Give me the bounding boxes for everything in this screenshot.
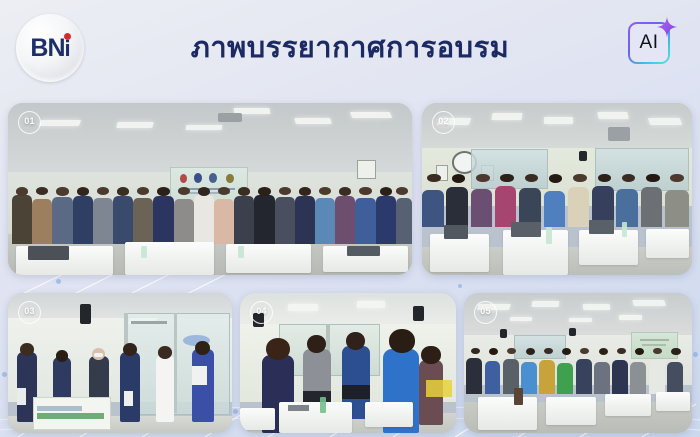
slide-header: BNi ภาพบรรยากาศการอบรม AI: [0, 0, 700, 96]
slide-root: BNi ภาพบรรยากาศการอบรม AI: [0, 0, 700, 437]
gallery-photo-4[interactable]: 04: [240, 293, 456, 433]
gallery-photo-2[interactable]: 02: [422, 103, 692, 275]
ai-badge: AI: [626, 16, 682, 72]
gallery-photo-3-image: [8, 293, 232, 433]
gallery-photo-3[interactable]: 03: [8, 293, 232, 433]
gallery-photo-5[interactable]: 05: [464, 293, 692, 433]
gallery-photo-1-badge: 01: [18, 111, 41, 134]
gallery-photo-1[interactable]: 01: [8, 103, 412, 275]
page-title: ภาพบรรยากาศการอบรม: [0, 20, 700, 76]
gallery-photo-1-image: [8, 103, 412, 275]
gallery-photo-5-badge: 05: [474, 301, 497, 324]
gallery-photo-5-image: [464, 293, 692, 433]
gallery-photo-2-image: [422, 103, 692, 275]
gallery-photo-4-badge: 04: [250, 301, 273, 324]
gallery-photo-2-badge: 02: [432, 111, 455, 134]
sparkle-icon: [656, 16, 678, 38]
gallery-photo-3-badge: 03: [18, 301, 41, 324]
